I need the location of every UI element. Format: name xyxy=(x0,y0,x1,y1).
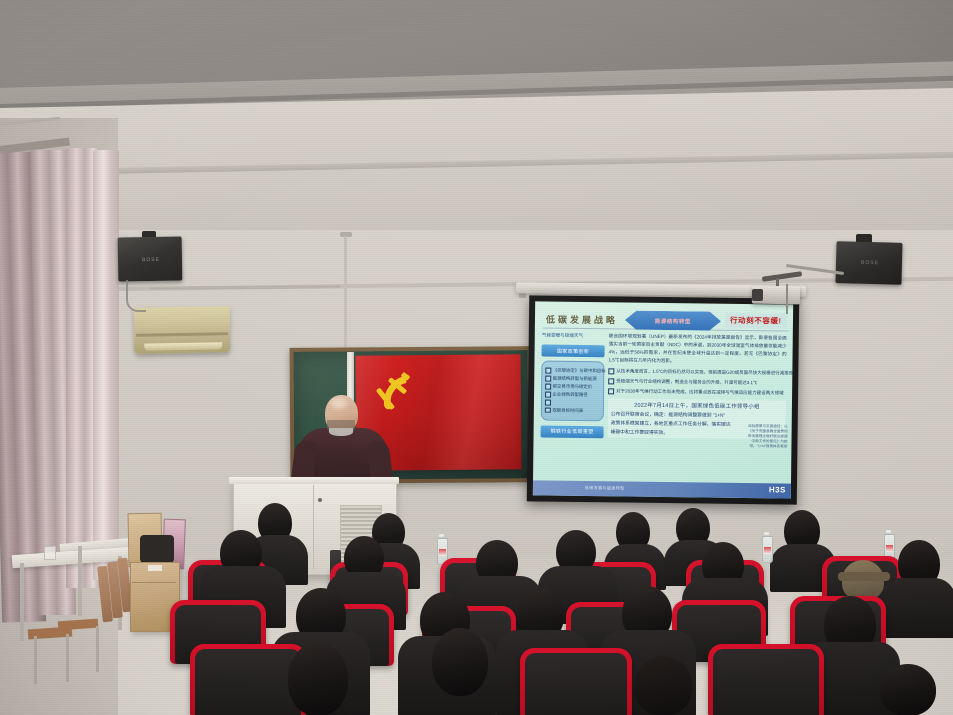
cabinet-door-seam xyxy=(313,485,314,569)
slide-bullet: 从技术角度而言，1.5℃的目标仍然可以实现，但前提是G20成员国尽快大规模进行减… xyxy=(608,367,786,377)
cabinet-knob xyxy=(318,498,322,502)
seat-pad xyxy=(525,653,627,715)
slide-paragraph: 联合国环境规划署（UNEP）最新发布的《2024年排放差距报告》显示，即便各国全… xyxy=(608,332,786,366)
slide-left-badge: 国家政策创新 xyxy=(542,345,605,358)
speaker-brand-label: BOSE xyxy=(138,257,164,263)
lecture-hall-photo: BOSE BOSE 低碳发展战略 能源结构转型 行动 xyxy=(0,0,953,715)
presenter-head-highlight xyxy=(331,398,347,409)
projection-screen: 低碳发展战略 能源结构转型 行动刻不容缓! 气候变暖与极端天气 国家政策创新 《… xyxy=(527,295,799,504)
seat-pad xyxy=(713,649,819,715)
audience-body xyxy=(880,578,953,638)
presenter xyxy=(293,395,393,487)
slide-left-panel: 气候变暖与极端天气 国家政策创新 《巴黎协定》与碳中和目标 能源结构转型与新能源… xyxy=(540,333,604,442)
bottle-cap xyxy=(764,532,769,535)
air-conditioner-unit xyxy=(134,306,231,354)
slide-left-bullet-top: 气候变暖与极端天气 xyxy=(542,333,605,340)
slide-footer-text: 低碳发展与能源转型 xyxy=(585,485,625,491)
slide-side-note: 目标愿景与实施途径：以《关于完整准确全面贯彻新发展理念做好碳达峰碳中和工作的意见… xyxy=(747,424,787,449)
projector-drop-rod xyxy=(786,284,788,314)
chair-leg xyxy=(34,636,37,684)
presenter-collar xyxy=(329,428,353,436)
table-leg xyxy=(20,563,24,641)
seat-pad xyxy=(195,649,301,715)
audience-head xyxy=(288,642,348,715)
speaker-brand-label: BOSE xyxy=(856,260,884,267)
hanging-rod xyxy=(344,236,347,360)
auditorium-seat[interactable] xyxy=(708,644,824,715)
slide-bullet: 对于2030年气候行动工作尚未完成，应将重点放在减排与气候适应能力建设两大领域 xyxy=(608,387,786,397)
slide-left-item: 能源结构转型与新能源 xyxy=(545,376,600,383)
audience-head xyxy=(432,628,488,696)
bottle-cap xyxy=(886,530,891,533)
slide-callout-line: 2022年7月14日上午，国家绿色低碳工作领导小组 xyxy=(611,400,783,410)
wall-speaker-right: BOSE xyxy=(835,241,902,285)
slide-cta-banner: 行动刻不容缓! xyxy=(725,313,787,329)
ac-vent xyxy=(144,342,222,350)
slide-body: 联合国环境规划署（UNEP）最新发布的《2024年排放差距报告》显示，即便各国全… xyxy=(608,332,787,439)
slide-left-item xyxy=(545,400,600,406)
slide-surface: 低碳发展战略 能源结构转型 行动刻不容缓! 气候变暖与极端天气 国家政策创新 《… xyxy=(533,301,793,498)
slide-callout-line: 公布召开联席会议，确定：能源结构调整要做到 "1+N" xyxy=(611,410,783,419)
window-curtain xyxy=(93,150,119,580)
audience-head xyxy=(634,656,692,715)
slide-arrow-banner: 能源结构转型 xyxy=(625,311,721,331)
slide-left-item: 《巴黎协定》与碳中和目标 xyxy=(545,368,600,375)
box-flap xyxy=(132,582,176,583)
speaker-cable xyxy=(126,280,146,312)
slide-left-item: 企业绿色转型路径 xyxy=(545,392,600,399)
slide-left-item: 双碳目标时间表 xyxy=(545,407,600,414)
slide-bullet: 受极端天气与行业结构调整，制造业与服务业的升级，升温可能达3.1℃ xyxy=(608,377,786,387)
slide-left-checklist: 《巴黎协定》与碳中和目标 能源结构转型与新能源 碳交易市场与碳定价 企业绿色转型… xyxy=(541,361,605,421)
slide-left-footer-badge: 钢铁行业低碳重塑 xyxy=(541,425,604,438)
wall-speaker-left: BOSE xyxy=(118,236,183,281)
slide-footer: 低碳发展与能源转型 H3S xyxy=(533,480,791,498)
bottle-cap xyxy=(439,534,444,537)
baseball-cap-icon xyxy=(838,572,890,581)
chair-leg xyxy=(66,634,69,682)
lectern-top xyxy=(229,477,399,484)
slide-title: 低碳发展战略 xyxy=(546,313,618,327)
water-bottle xyxy=(762,536,773,563)
ac-slat xyxy=(136,332,228,337)
slide-left-item: 碳交易市场与碳定价 xyxy=(545,384,600,391)
slide-logo: H3S xyxy=(769,485,786,494)
auditorium-seat[interactable] xyxy=(520,648,632,715)
slide-cta-label: 行动刻不容缓! xyxy=(730,315,782,327)
box-label xyxy=(148,565,162,571)
dark-bag xyxy=(140,535,174,563)
audience-head xyxy=(880,664,936,715)
slide-arrow-label: 能源结构转型 xyxy=(655,316,691,324)
cup-on-table xyxy=(44,546,56,560)
table-leg xyxy=(78,546,82,616)
chair-leg xyxy=(96,626,99,672)
projector-lens-icon xyxy=(752,289,763,301)
